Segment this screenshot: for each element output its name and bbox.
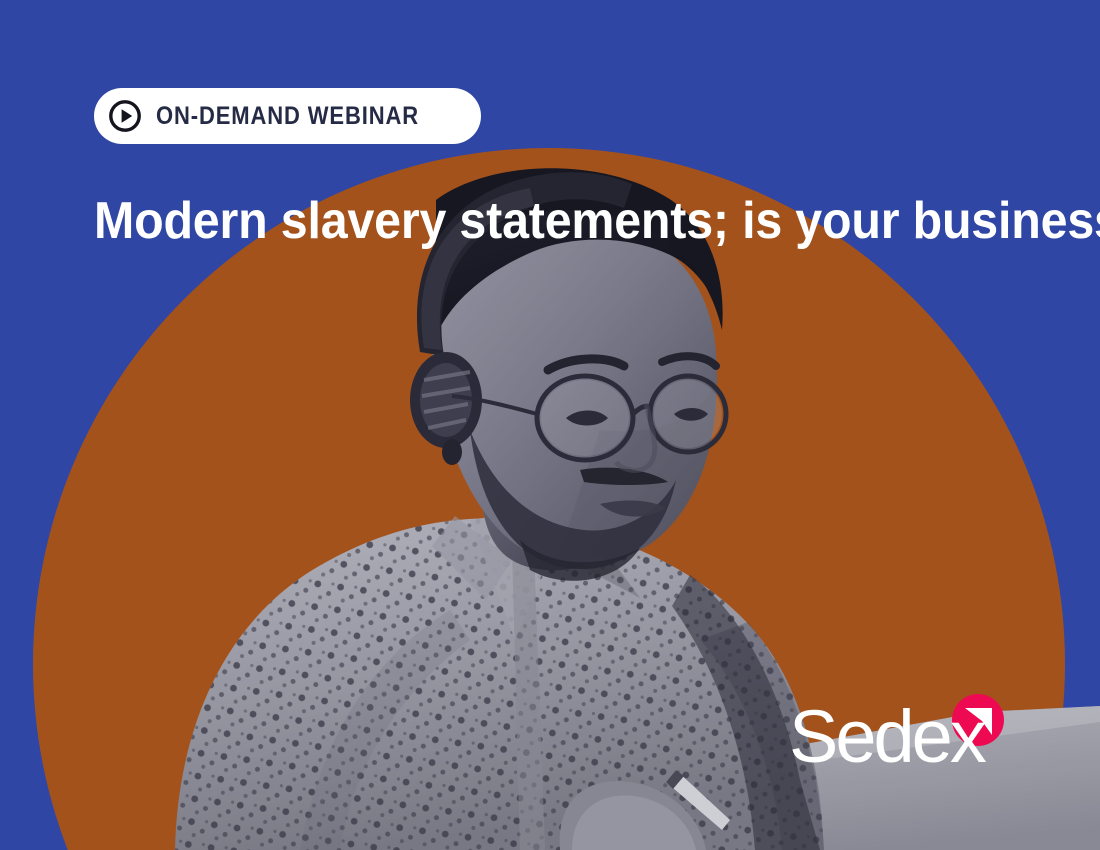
webinar-promo-card: ON-DEMAND WEBINAR Modern slavery stateme… bbox=[0, 0, 1100, 850]
sedex-logo: Sedex bbox=[789, 694, 1019, 776]
page-title: Modern slavery statements; is your busin… bbox=[94, 195, 987, 247]
on-demand-webinar-badge[interactable]: ON-DEMAND WEBINAR bbox=[94, 88, 481, 144]
svg-text:Sedex: Sedex bbox=[789, 695, 987, 776]
badge-label: ON-DEMAND WEBINAR bbox=[156, 104, 419, 129]
play-circle-icon bbox=[108, 99, 142, 133]
